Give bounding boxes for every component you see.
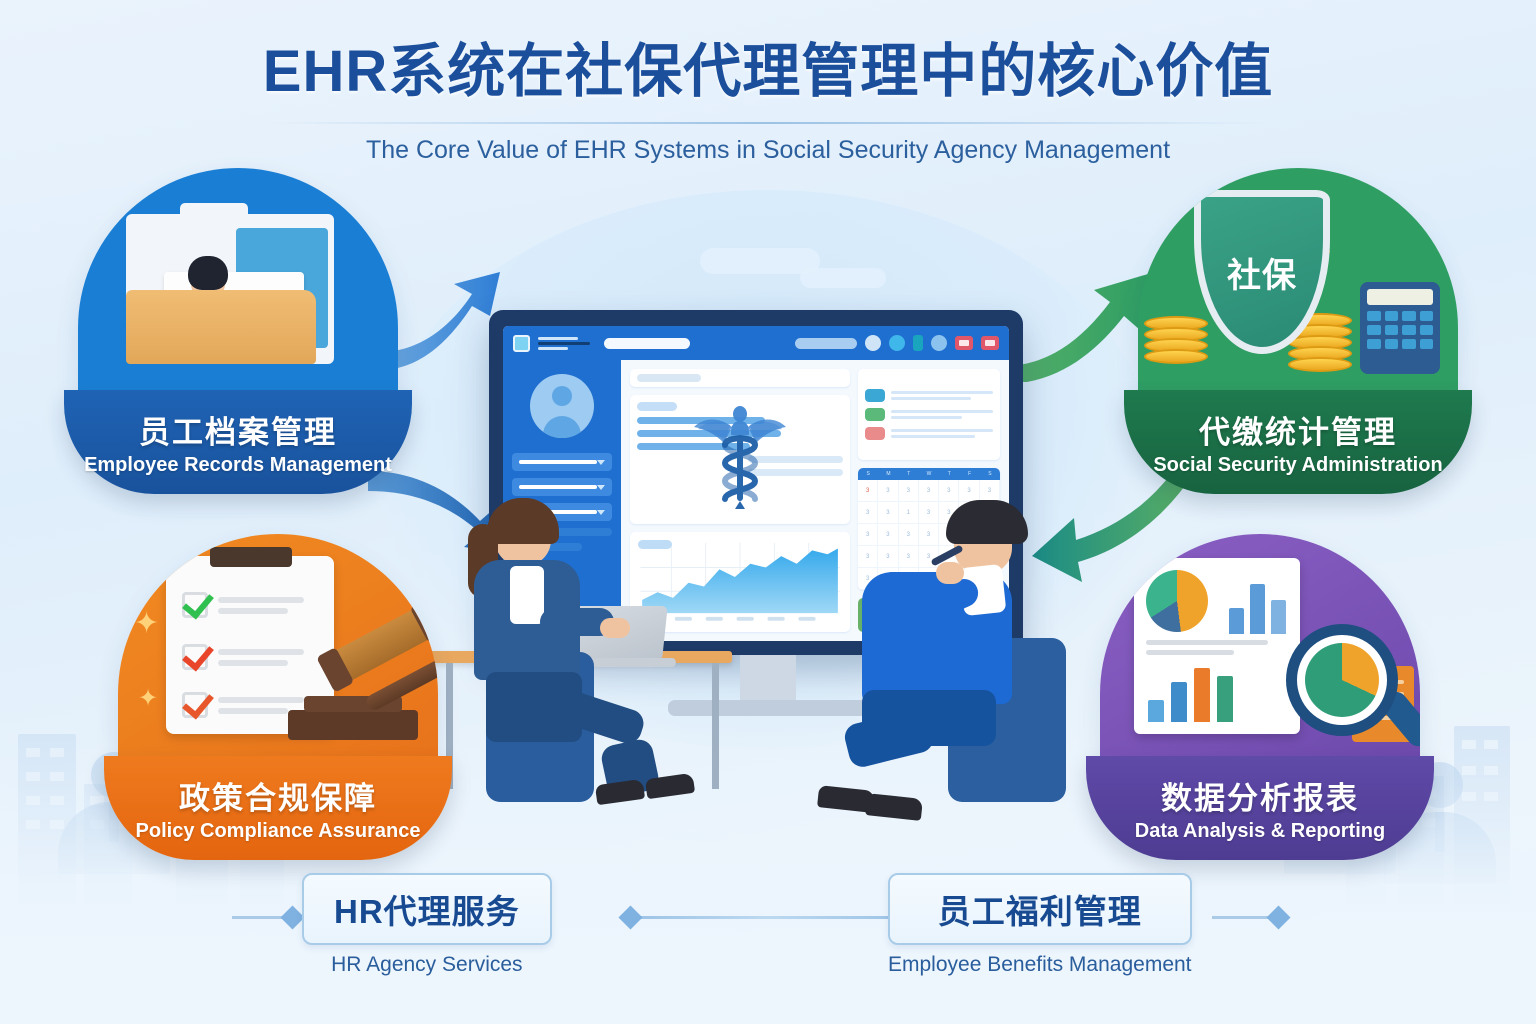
- label-cn: 员工档案管理: [139, 407, 337, 452]
- list-item[interactable]: [865, 427, 993, 440]
- label-en: Policy Compliance Assurance: [136, 820, 421, 843]
- connector-diamond: [280, 905, 304, 929]
- cloud-shape: [700, 248, 820, 274]
- messages-badge-icon[interactable]: [981, 336, 999, 350]
- calculator-icon: [1360, 282, 1440, 374]
- bottom-label-en: HR Agency Services: [302, 953, 552, 977]
- bar-chart-top: [1229, 576, 1286, 634]
- checklist-gavel-icon: ✦ ✦: [118, 534, 438, 756]
- label-cn: 代缴统计管理: [1199, 407, 1397, 452]
- quadrant-policy-compliance[interactable]: ✦ ✦ 政策合规保障: [118, 534, 438, 860]
- coin-stack: [1144, 320, 1208, 364]
- label-social-security: 代缴统计管理 Social Security Administration: [1124, 390, 1472, 494]
- topbar-title-lines: [538, 337, 590, 350]
- bottom-label-cn: HR代理服务: [334, 885, 520, 933]
- quadrant-social-security[interactable]: 社保 代缴统计管理 Social Security Administration: [1138, 168, 1458, 494]
- check-icon: [182, 592, 208, 618]
- caduceus-medical-icon: [692, 401, 788, 509]
- app-logo-icon: [513, 335, 530, 352]
- sidebar-item-1[interactable]: [512, 453, 612, 471]
- label-en: Social Security Administration: [1153, 454, 1442, 477]
- connector-diamond: [618, 905, 642, 929]
- chart-chip: [638, 540, 672, 549]
- hr-agency-frame[interactable]: HR代理服务: [302, 873, 552, 945]
- bottom-label-en: Employee Benefits Management: [888, 953, 1192, 977]
- record-form-card[interactable]: [630, 395, 850, 524]
- checklist-row: [182, 592, 304, 618]
- desk-leg: [712, 663, 719, 789]
- help-dot-icon[interactable]: [931, 335, 947, 351]
- label-policy-compliance: 政策合规保障 Policy Compliance Assurance: [104, 756, 452, 860]
- sidebar-item-2[interactable]: [512, 478, 612, 496]
- search-input[interactable]: [604, 338, 690, 349]
- calendar-weekday: W: [919, 468, 939, 480]
- charts-magnifier-icon: [1100, 534, 1420, 756]
- bottom-box-hr-agency[interactable]: HR代理服务 HR Agency Services: [302, 873, 552, 977]
- label-cn: 政策合规保障: [179, 773, 377, 818]
- bottom-box-employee-benefits[interactable]: 员工福利管理 Employee Benefits Management: [888, 873, 1192, 977]
- cloud-shape: [800, 268, 886, 288]
- list-item[interactable]: [865, 389, 993, 402]
- header: EHR系统在社保代理管理中的核心价值 The Core Value of EHR…: [0, 24, 1536, 165]
- page-title: EHR系统在社保代理管理中的核心价值: [0, 24, 1536, 108]
- sparkle-icon: ✦: [138, 684, 158, 713]
- status-badge: [865, 408, 885, 421]
- connector-diamond: [1266, 905, 1290, 929]
- gavel-icon: [274, 620, 438, 740]
- city-building: [18, 734, 76, 904]
- page-subtitle: The Core Value of EHR Systems in Social …: [0, 136, 1536, 165]
- employee-benefits-frame[interactable]: 员工福利管理: [888, 873, 1192, 945]
- calendar-weekday: T: [939, 468, 959, 480]
- dashboard-topbar: [503, 326, 1009, 360]
- area-chart: [637, 539, 843, 625]
- quadrant-employee-records[interactable]: 员工档案管理 Employee Records Management: [78, 168, 398, 494]
- monitor-stand-base: [668, 700, 868, 716]
- label-cn: 数据分析报表: [1161, 773, 1359, 818]
- status-badge: [865, 389, 885, 402]
- magnifier-icon: [1286, 624, 1398, 736]
- calendar-weekday: S: [980, 468, 1000, 480]
- monitor-stand-neck: [740, 655, 796, 703]
- calendar-weekday: M: [878, 468, 898, 480]
- dashboard-main-column: [630, 369, 850, 632]
- pie-chart-icon: [1146, 570, 1208, 632]
- form-chip: [637, 402, 677, 411]
- calendar-weekday: S: [858, 468, 878, 480]
- label-en: Employee Records Management: [84, 454, 392, 477]
- shield-coins-calculator-icon: 社保: [1138, 168, 1458, 390]
- secondary-field[interactable]: [795, 338, 857, 349]
- list-item[interactable]: [865, 408, 993, 421]
- label-data-analysis: 数据分析报表 Data Analysis & Reporting: [1086, 756, 1434, 860]
- check-icon: [182, 644, 208, 670]
- bottom-label-cn: 员工福利管理: [920, 885, 1160, 933]
- calendar-weekday: F: [959, 468, 979, 480]
- infographic-canvas: EHR系统在社保代理管理中的核心价值 The Core Value of EHR…: [0, 0, 1536, 1024]
- calendar-weekday-header: S M T W T F S: [858, 468, 1000, 480]
- report-text-lines: [1146, 640, 1288, 655]
- profile-dot-icon[interactable]: [865, 335, 881, 351]
- section-header: [630, 369, 850, 387]
- avatar: [530, 374, 594, 438]
- label-employee-records: 员工档案管理 Employee Records Management: [64, 390, 412, 494]
- status-badge: [865, 427, 885, 440]
- calendar-weekday: T: [899, 468, 919, 480]
- title-divider: [268, 122, 1268, 124]
- connector-line-center: [632, 916, 904, 919]
- alert-badge-icon[interactable]: [955, 336, 973, 350]
- folder-records-icon: [78, 168, 398, 390]
- bar-chart-bottom: [1148, 660, 1233, 722]
- notification-dot-icon[interactable]: [889, 335, 905, 351]
- sparkle-icon: ✦: [134, 606, 159, 641]
- info-icon[interactable]: [913, 335, 923, 351]
- folder-graphic: [126, 214, 334, 364]
- quadrant-data-analysis[interactable]: 数据分析报表 Data Analysis & Reporting: [1100, 534, 1420, 860]
- report-sheet: [1134, 558, 1300, 734]
- city-building: [1454, 726, 1510, 904]
- check-icon: [182, 692, 208, 718]
- shield-label: 社保: [1227, 248, 1297, 297]
- status-list-card[interactable]: [858, 369, 1000, 460]
- label-en: Data Analysis & Reporting: [1135, 820, 1385, 843]
